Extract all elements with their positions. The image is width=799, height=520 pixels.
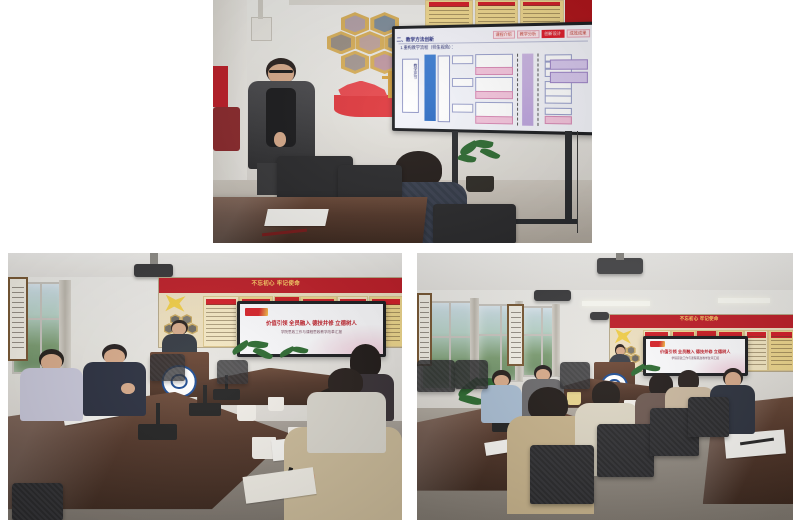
slide-surface: 二、教学方法创新 课程介绍 教学分析 创新设计 成效成果 1.重构教学流程（师生…	[395, 25, 592, 133]
flow-highlight-box	[475, 116, 513, 124]
party-wall-banner: 不忘初心 牢记使命	[610, 315, 793, 327]
flow-divider	[517, 54, 518, 126]
hammer-sickle-emblem	[613, 329, 631, 345]
party-wall-banner-text: 不忘初心 牢记使命	[680, 316, 719, 322]
slide-subtitle: 1.重构教学流程（师生视角）：	[401, 44, 456, 51]
flag-graphic	[650, 341, 666, 346]
chair	[417, 360, 455, 392]
flow-stage-col	[438, 56, 450, 123]
party-wall-banner: 不忘初心 牢记使命	[159, 278, 402, 293]
flow-box	[452, 104, 473, 113]
chair	[560, 362, 590, 389]
flow-divider	[538, 54, 539, 127]
flow-student-bar	[523, 54, 534, 127]
attendee-right-mid	[307, 368, 386, 448]
flow-teacher-bar	[424, 55, 436, 122]
chair	[688, 397, 729, 437]
paper-cup	[237, 405, 257, 421]
wall-speaker	[590, 312, 609, 320]
flow-student-box	[545, 96, 572, 104]
flag-graphic	[245, 308, 268, 316]
attendee-hand	[121, 383, 135, 394]
desk-microphone	[138, 424, 177, 440]
wall-control-box	[251, 17, 272, 41]
ceiling-light	[718, 298, 771, 302]
slide-subtitle: 学院思政工作与课程思政教学改革汇报	[254, 330, 369, 335]
wall-speaker	[534, 290, 572, 301]
desk-microphone	[213, 389, 241, 400]
chair	[530, 445, 594, 504]
slide-subtitle: 学院思政工作与课程思政教学改革汇报	[656, 356, 735, 360]
flow-student-box	[545, 108, 572, 116]
flow-box	[452, 56, 473, 65]
photo-bottom-left: 不忘初心 牢记使命	[8, 253, 402, 520]
chair	[217, 360, 249, 384]
tab-teaching-analysis[interactable]: 教学分析	[517, 30, 539, 39]
ceiling-projector	[134, 264, 173, 277]
flow-axis-label: 教学环节	[402, 59, 419, 114]
hammer-sickle-emblem	[164, 295, 186, 313]
chair	[597, 424, 653, 477]
attendee-left-front	[20, 349, 83, 418]
tab-outcomes[interactable]: 成效成果	[567, 29, 590, 38]
photo-collage: 二、教学方法创新 课程介绍 教学分析 创新设计 成效成果 1.重构教学流程（师生…	[0, 0, 799, 520]
party-wall-banner-text: 不忘初心 牢记使命	[252, 279, 301, 287]
chair	[455, 360, 489, 389]
calligraphy-scroll	[507, 304, 524, 367]
chair	[433, 204, 516, 243]
notebook-paper	[264, 209, 328, 226]
display-stand-post	[565, 131, 571, 223]
flow-highlight-box	[475, 68, 513, 76]
presentation-display: 二、教学方法创新 课程介绍 教学分析 创新设计 成效成果 1.重构教学流程（师生…	[392, 22, 592, 136]
chair	[150, 354, 185, 381]
flow-student-highlight	[545, 116, 572, 124]
tab-innovative-design[interactable]: 创新设计	[542, 30, 565, 39]
desk-microphone	[189, 403, 221, 416]
party-wall-panel	[203, 296, 239, 347]
display-cable	[577, 131, 578, 233]
slide-note	[550, 60, 588, 71]
photo-bottom-right: 不忘初心 牢记使命	[417, 253, 793, 520]
slide-title: 二、教学方法创新	[397, 37, 434, 44]
calligraphy-scroll	[417, 293, 432, 366]
flow-box	[452, 78, 473, 87]
party-wall-panel	[768, 330, 793, 371]
chair	[12, 483, 63, 520]
presenter-hand	[274, 132, 286, 147]
red-wall-panel	[213, 66, 228, 107]
photo-top: 二、教学方法创新 课程介绍 教学分析 创新设计 成效成果 1.重构教学流程（师生…	[213, 0, 592, 243]
attendee-left-second	[83, 344, 146, 413]
slide-note	[550, 73, 588, 84]
tab-course-intro[interactable]: 课程介绍	[493, 31, 515, 39]
slide-title: 价值引领 全员融入 德技并修 立德树人	[247, 319, 376, 327]
ceiling-light	[582, 301, 650, 306]
slide-title: 价值引领 全员融入 德技并修 立德树人	[651, 349, 740, 355]
paper-cup	[268, 397, 284, 410]
chair-red	[213, 107, 240, 151]
ceiling-projector	[597, 258, 642, 274]
flow-highlight-box	[475, 91, 513, 99]
